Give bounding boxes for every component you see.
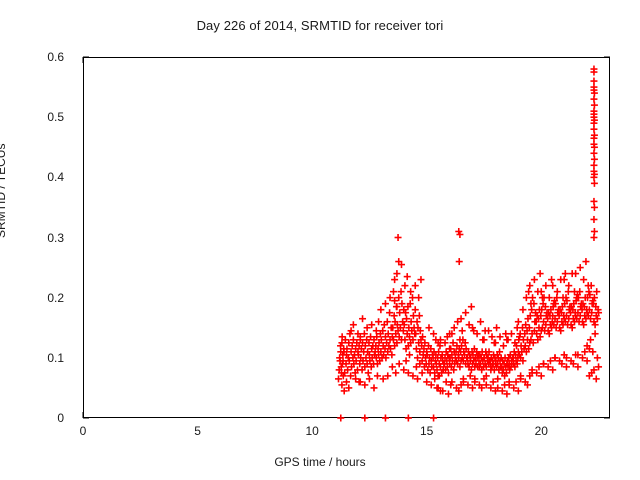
plot-area bbox=[83, 57, 610, 418]
y-axis-label: SRMTID / TECUs bbox=[0, 144, 8, 238]
y-tick-label: 0.2 bbox=[47, 291, 64, 305]
chart-page: Day 226 of 2014, SRMTID for receiver tor… bbox=[0, 0, 640, 480]
x-tick-label: 0 bbox=[80, 424, 87, 438]
x-axis-tick-labels: 05101520 bbox=[83, 424, 610, 444]
x-tick-label: 10 bbox=[305, 424, 318, 438]
y-tick-label: 0.5 bbox=[47, 110, 64, 124]
x-axis-label: GPS time / hours bbox=[0, 455, 640, 469]
x-tick-label: 5 bbox=[194, 424, 201, 438]
y-tick-label: 0.1 bbox=[47, 351, 64, 365]
chart-title: Day 226 of 2014, SRMTID for receiver tor… bbox=[0, 18, 640, 33]
y-tick-label: 0 bbox=[57, 411, 64, 425]
y-tick-label: 0.6 bbox=[47, 50, 64, 64]
x-tick-label: 15 bbox=[420, 424, 433, 438]
x-tick-label: 20 bbox=[535, 424, 548, 438]
y-tick-label: 0.3 bbox=[47, 231, 64, 245]
data-series bbox=[335, 66, 602, 422]
y-axis-tick-labels: 00.10.20.30.40.50.6 bbox=[0, 57, 76, 418]
y-tick-label: 0.4 bbox=[47, 170, 64, 184]
data-points-layer bbox=[83, 57, 610, 418]
